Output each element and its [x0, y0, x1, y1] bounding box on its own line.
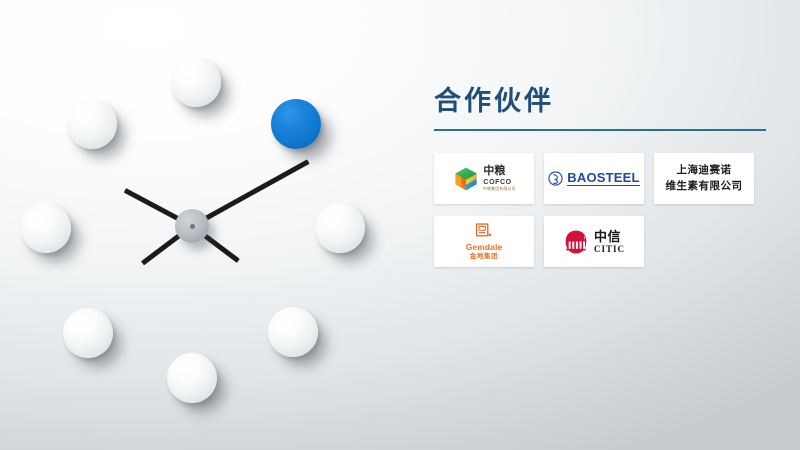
citic-name-en: CITIC	[594, 245, 625, 254]
clock-marker-4-5	[268, 307, 318, 357]
desano-line-2: 维生素有限公司	[666, 179, 743, 194]
clock-marker-6	[167, 353, 217, 403]
clock-marker-7-8	[63, 308, 113, 358]
citic-emblem-icon	[563, 229, 589, 255]
baosteel-lockup: BAOSTEEL	[548, 171, 639, 186]
gemdale-lockup: Gemdale 金地集团	[466, 223, 503, 261]
clock-marker-12	[171, 57, 221, 107]
page-title: 合作伙伴	[434, 86, 780, 117]
citic-lockup: 中信 CITIC	[563, 229, 625, 255]
citic-name-cn: 中信	[594, 230, 621, 243]
cofco-name-en: COFCO	[483, 179, 511, 186]
partner-card-empty-slot	[654, 216, 754, 267]
gemdale-name-en: Gemdale	[466, 243, 503, 252]
clock-marker-accent	[271, 99, 321, 149]
cofco-name-cn: 中粮	[483, 166, 505, 177]
slide-canvas: 合作伙伴	[0, 0, 800, 450]
partner-card-gemdale[interactable]: Gemdale 金地集团	[434, 216, 534, 267]
partner-card-baosteel[interactable]: BAOSTEEL	[544, 153, 644, 204]
cofco-text-block: 中粮 COFCO 中粮集团有限公司	[483, 166, 514, 191]
citic-text-block: 中信 CITIC	[594, 230, 625, 254]
clock-minute-hand	[191, 159, 310, 228]
partners-panel: 合作伙伴	[432, 86, 780, 267]
baosteel-name: BAOSTEEL	[567, 171, 639, 186]
clock-center-hub	[175, 209, 209, 243]
partner-logo-grid: 中粮 COFCO 中粮集团有限公司 BAOSTEEL	[434, 153, 780, 267]
clock-marker-10-11	[67, 99, 117, 149]
desano-line-1: 上海迪赛诺	[666, 163, 743, 178]
clock-marker-3	[315, 203, 365, 253]
partner-card-desano[interactable]: 上海迪赛诺 维生素有限公司	[654, 153, 754, 204]
partner-card-citic[interactable]: 中信 CITIC	[544, 216, 644, 267]
cofco-lockup: 中粮 COFCO 中粮集团有限公司	[453, 166, 514, 192]
cofco-tagline: 中粮集团有限公司	[483, 187, 516, 191]
title-underline-rule	[434, 129, 766, 131]
clock-marker-9	[21, 203, 71, 253]
gemdale-name-cn: 金地集团	[470, 254, 498, 261]
cofco-cube-icon	[453, 166, 479, 192]
partner-card-cofco[interactable]: 中粮 COFCO 中粮集团有限公司	[434, 153, 534, 204]
desano-text-block: 上海迪赛诺 维生素有限公司	[666, 163, 743, 193]
baosteel-emblem-icon	[548, 171, 563, 186]
gemdale-square-icon	[475, 223, 492, 240]
wall-clock-graphic	[0, 0, 400, 450]
